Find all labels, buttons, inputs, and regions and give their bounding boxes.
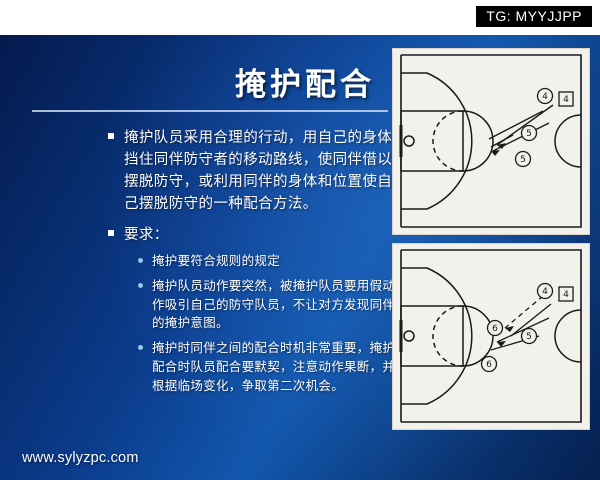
diamond-bullet-icon <box>138 258 143 263</box>
page-title: 掩护配合 <box>190 59 420 104</box>
slide-body: 掩护队员采用合理的行动，用自己的身体挡住同伴防守者的移动路线，使同伴借以摆脱防守… <box>108 127 400 404</box>
presentation-slide: 掩护配合 掩护队员采用合理的行动，用自己的身体挡住同伴防守者的移动路线，使同伴借… <box>0 35 600 480</box>
player-label: 5 <box>526 332 532 342</box>
sub-bullet-text: 掩护队员动作要突然，被掩护队员要用假动作吸引自己的防守队员，不让对方发现同伴的掩… <box>152 278 395 331</box>
bullet-item: 要求： 掩护要符合规则的规定 掩护队员动作要突然，被掩护队员要用假动作吸引自己的… <box>108 224 400 395</box>
sub-bullet-list: 掩护要符合规则的规定 掩护队员动作要突然，被掩护队员要用假动作吸引自己的防守队员… <box>138 252 400 395</box>
diamond-bullet-icon <box>138 345 143 350</box>
bullet-text: 要求： <box>124 227 169 243</box>
sub-bullet-text: 掩护时同伴之间的配合时机非常重要，掩护配合时队员配合要默契，注意动作果断，并根据… <box>152 340 395 393</box>
square-bullet-icon <box>108 230 114 236</box>
player-label: 5 <box>526 129 532 139</box>
diamond-bullet-icon <box>138 283 143 288</box>
screenshot-root: TG: MYYJJPP 掩护配合 掩护队员采用合理的行动，用自己的身体挡住同伴防… <box>0 0 600 480</box>
site-url-watermark: www.sylyzpc.com <box>22 450 139 466</box>
sub-bullet-item: 掩护队员动作要突然，被掩护队员要用假动作吸引自己的防守队员，不让对方发现同伴的掩… <box>138 277 400 333</box>
title-divider <box>32 110 388 112</box>
tg-watermark-badge: TG: MYYJJPP <box>476 6 592 27</box>
sub-bullet-item: 掩护时同伴之间的配合时机非常重要，掩护配合时队员配合要默契，注意动作果断，并根据… <box>138 339 400 395</box>
player-label: 4 <box>563 95 569 105</box>
sub-bullet-item: 掩护要符合规则的规定 <box>138 252 400 271</box>
basketball-court-diagram-top: 4 4 5 5 <box>392 48 590 235</box>
player-label: 4 <box>563 290 569 300</box>
player-label: 5 <box>520 155 526 165</box>
bullet-item: 掩护队员采用合理的行动，用自己的身体挡住同伴防守者的移动路线，使同伴借以摆脱防守… <box>108 127 400 215</box>
player-label: 4 <box>542 92 548 102</box>
sub-bullet-text: 掩护要符合规则的规定 <box>152 253 280 268</box>
court-diagram-svg-bottom: 4 4 6 5 6 <box>393 244 589 429</box>
player-label: 4 <box>542 287 548 297</box>
basketball-court-diagram-bottom: 4 4 6 5 6 <box>392 243 590 430</box>
top-white-band: TG: MYYJJPP <box>0 0 600 35</box>
player-label: 6 <box>492 324 498 334</box>
player-label: 6 <box>486 360 492 370</box>
square-bullet-icon <box>108 133 114 139</box>
bullet-text: 掩护队员采用合理的行动，用自己的身体挡住同伴防守者的移动路线，使同伴借以摆脱防守… <box>124 130 392 212</box>
court-diagram-svg-top: 4 4 5 5 <box>393 49 589 234</box>
